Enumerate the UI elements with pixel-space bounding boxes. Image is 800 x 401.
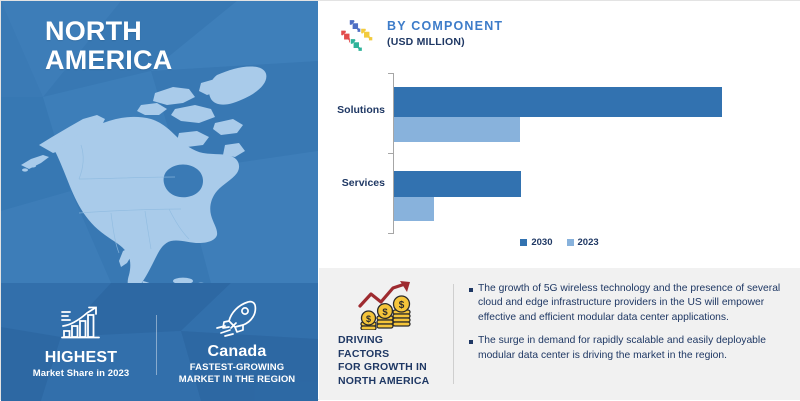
driving-factors-list: The growth of 5G wireless technology and… — [469, 282, 787, 372]
legend-item-2030[interactable]: 2030 — [520, 237, 552, 248]
chart-panel: BY COMPONENT (USD MILLION) Solutions Ser… — [319, 1, 800, 268]
svg-text:$: $ — [366, 314, 371, 324]
stat-canada-caption: FASTEST-GROWING MARKET IN THE REGION — [179, 362, 296, 386]
bar-services-2030[interactable] — [394, 171, 521, 197]
driving-factor-text-1: The growth of 5G wireless technology and… — [478, 282, 787, 325]
stat-canada-caption-line1: FASTEST-GROWING — [190, 362, 284, 373]
legend-label-2023: 2023 — [578, 237, 599, 248]
driving-factors-heading-line3: NORTH AMERICA — [338, 375, 434, 389]
region-stats-zone: HIGHEST Market Share in 2023 — [1, 283, 318, 401]
stat-highest-value: HIGHEST — [45, 348, 118, 367]
stat-highest-market-share: HIGHEST Market Share in 2023 — [7, 283, 155, 401]
map-zone: NORTH AMERICA — [1, 1, 318, 283]
bar-solutions-2023[interactable] — [394, 117, 520, 142]
bar-chart-growth-icon — [57, 305, 105, 343]
stat-fastest-growing-country: Canada FASTEST-GROWING MARKET IN THE REG… — [161, 283, 313, 401]
driving-factors-heading-line2: FOR GROWTH IN — [338, 361, 434, 375]
region-title-line2: AMERICA — [45, 46, 172, 75]
category-label-solutions: Solutions — [321, 104, 385, 116]
legend-swatch-2023 — [567, 239, 574, 246]
bar-services-2023[interactable] — [394, 197, 434, 221]
driving-factors-panel: $ $ $ DRIVING FACTORS FOR GROWTH IN NORT… — [319, 268, 800, 400]
chart-legend: 2030 2023 — [319, 237, 800, 248]
axis-tick — [388, 153, 393, 154]
bar-chart-plot: Solutions Services 2030 2023 — [319, 1, 800, 268]
driving-factors-heading-line1: DRIVING FACTORS — [338, 334, 434, 361]
region-title-line1: NORTH — [45, 17, 172, 46]
stat-canada-value: Canada — [208, 342, 267, 361]
driving-factors-heading-block: $ $ $ DRIVING FACTORS FOR GROWTH IN NORT… — [319, 268, 453, 400]
legend-label-2030: 2030 — [531, 237, 552, 248]
axis-tick — [388, 233, 393, 234]
stat-canada-caption-line2: MARKET IN THE REGION — [179, 374, 296, 385]
bullet-square-icon — [469, 288, 473, 292]
page-title: NORTH AMERICA — [45, 17, 172, 75]
legend-item-2023[interactable]: 2023 — [567, 237, 599, 248]
infographic-root: NORTH AMERICA — [0, 0, 800, 400]
category-label-services: Services — [321, 177, 385, 189]
stats-divider — [156, 315, 157, 375]
driving-factors-heading: DRIVING FACTORS FOR GROWTH IN NORTH AMER… — [338, 334, 434, 388]
svg-text:$: $ — [399, 300, 405, 311]
bullet-square-icon — [469, 340, 473, 344]
rocket-icon — [213, 299, 261, 337]
coins-growth-arrow-icon: $ $ $ — [355, 280, 417, 330]
north-america-map-icon — [19, 53, 309, 283]
bar-solutions-2030[interactable] — [394, 87, 722, 117]
legend-swatch-2030 — [520, 239, 527, 246]
axis-tick — [388, 73, 393, 74]
list-item: The surge in demand for rapidly scalable… — [469, 334, 787, 363]
svg-text:$: $ — [382, 307, 388, 318]
list-item: The growth of 5G wireless technology and… — [469, 282, 787, 325]
region-panel: NORTH AMERICA — [1, 1, 318, 401]
stat-highest-caption: Market Share in 2023 — [33, 368, 130, 380]
drivers-divider — [453, 284, 454, 384]
driving-factor-text-2: The surge in demand for rapidly scalable… — [478, 334, 787, 363]
